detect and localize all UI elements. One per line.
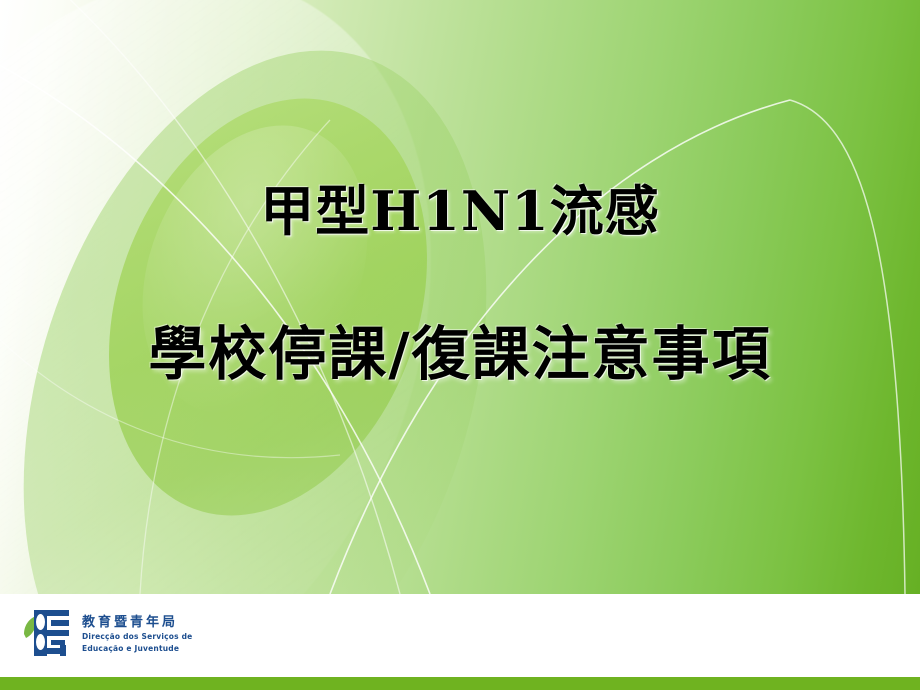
background-arc-lines <box>0 0 920 594</box>
presentation-slide: 甲型H1N1流感 學校停課/復課注意事項 教育暨青年局 Direcção dos… <box>0 0 920 690</box>
dsej-logo-portuguese-line-2: Educação e Juventude <box>82 644 282 653</box>
slide-background-artwork: 甲型H1N1流感 學校停課/復課注意事項 <box>0 0 920 594</box>
dsej-logo-chinese-name: 教育暨青年局 <box>82 616 282 630</box>
dsej-logo-portuguese-line-1: Direcção dos Serviços de <box>82 632 282 641</box>
footer-accent-bar <box>0 677 920 690</box>
dsej-logo-text: 教育暨青年局 Direcção dos Serviços de Educação… <box>82 616 282 653</box>
dsej-logo-mark-icon <box>20 604 78 662</box>
dsej-logo: 教育暨青年局 Direcção dos Serviços de Educação… <box>20 604 290 666</box>
